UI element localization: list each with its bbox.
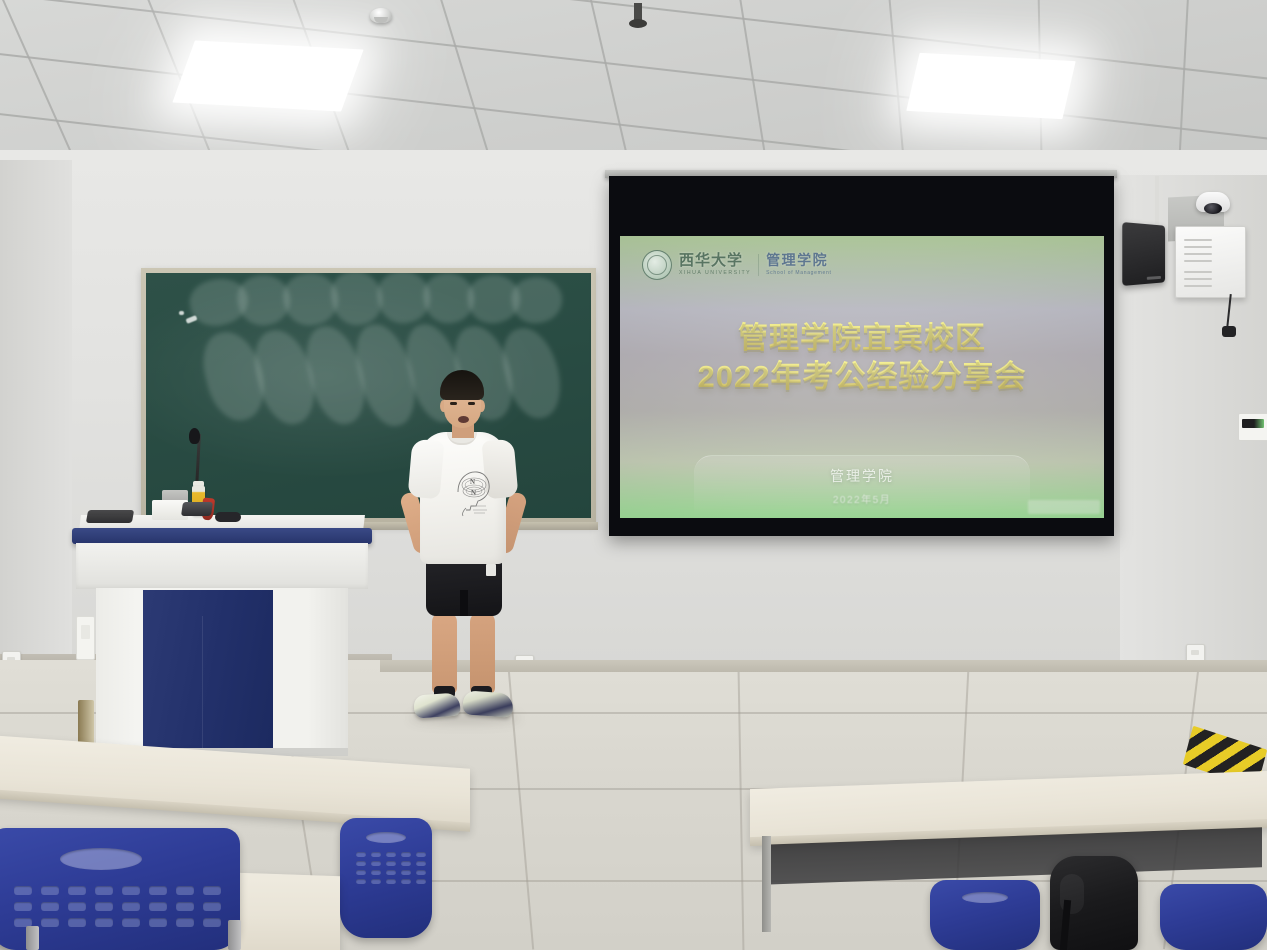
shorts-label: [486, 564, 496, 576]
equipment-cabinet[interactable]: [1175, 226, 1246, 298]
svg-text:N: N: [471, 489, 476, 497]
dome-camera-icon: [1196, 192, 1230, 212]
presenter-hair: [440, 370, 484, 400]
chair-back: [930, 880, 1040, 950]
smoke-detector-icon: [370, 8, 392, 23]
university-name-cn: 西华大学: [679, 254, 751, 269]
podium-top-edge: [72, 528, 372, 544]
podium-apron: [76, 543, 368, 589]
chair-handle: [60, 848, 142, 870]
slide-footer-shape: [694, 455, 1030, 518]
chair-handle: [366, 832, 406, 843]
university-seal-icon: [642, 250, 672, 280]
slide-organization: 管理学院: [620, 466, 1104, 486]
chair-handle: [962, 892, 1008, 903]
microphone-base: [181, 502, 213, 516]
presenter: N N: [390, 370, 540, 742]
control-panel[interactable]: [1238, 413, 1267, 441]
slide-logo: 西华大学 XIHUA UNIVERSITY 管理学院 School of Man…: [642, 250, 832, 280]
tshirt-head-graphic-icon: N N: [450, 466, 494, 518]
podium-items-dark[interactable]: [86, 510, 134, 523]
chair-leg: [228, 920, 241, 950]
slide-title-line1: 管理学院宜宾校区: [620, 320, 1104, 358]
wall-conduit: [1155, 176, 1159, 232]
presenter-eye-left: [450, 402, 457, 405]
power-plug-icon: [1222, 326, 1236, 337]
light-switch-plate[interactable]: [76, 616, 95, 660]
ceiling-hook-icon: [634, 3, 642, 25]
podium-front-panel: [143, 590, 273, 753]
presenter-leg-right: [470, 612, 495, 694]
slide-title: 管理学院宜宾校区 2022年考公经验分享会: [620, 320, 1104, 396]
chair-back: [1160, 884, 1267, 950]
chair[interactable]: [340, 818, 432, 938]
chair-perforations: [356, 852, 426, 884]
left-wall: [0, 160, 72, 680]
slide-watermark: [1028, 500, 1100, 514]
slide-title-line2: 2022年考公经验分享会: [620, 358, 1104, 396]
presenter-eye-right: [468, 402, 475, 405]
chair[interactable]: [930, 880, 1040, 950]
microphone-icon: [189, 428, 200, 444]
presenter-leg-left: [432, 612, 457, 694]
svg-text:N: N: [470, 478, 475, 486]
chair[interactable]: [1160, 884, 1267, 950]
chair-perforations: [14, 886, 221, 927]
school-name-cn: 管理学院: [766, 255, 831, 269]
projected-slide: 西华大学 XIHUA UNIVERSITY 管理学院 School of Man…: [620, 236, 1104, 518]
chair-leg: [26, 926, 39, 950]
presenter-shoe-right: [462, 690, 514, 717]
presenter-shoe-left: [413, 692, 460, 718]
desk-leg: [762, 836, 771, 932]
classroom-photo: 西华大学 XIHUA UNIVERSITY 管理学院 School of Man…: [0, 0, 1267, 950]
wall-speaker: [1122, 222, 1165, 286]
presenter-sleeve-left: [408, 439, 445, 500]
school-name-en: School of Management: [766, 271, 831, 276]
led-panel-light-left: [172, 40, 363, 111]
led-panel-light-right: [906, 53, 1075, 119]
logo-divider: [758, 254, 759, 276]
presenter-mouth: [458, 416, 469, 423]
podium-item-remote[interactable]: [215, 512, 241, 522]
university-name-en: XIHUA UNIVERSITY: [679, 271, 751, 276]
